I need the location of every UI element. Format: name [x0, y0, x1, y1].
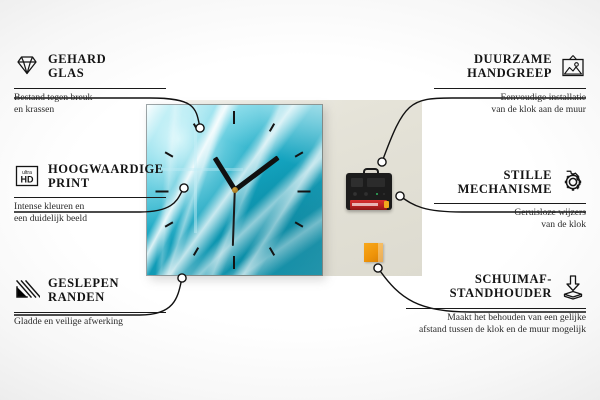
clock-center-cap	[232, 187, 238, 193]
picture-frame-icon	[560, 54, 586, 78]
diamond-icon	[14, 54, 40, 78]
clock-tick-6	[233, 256, 235, 269]
glass-wall-clock-product	[147, 105, 322, 275]
clock-tick-12	[233, 111, 235, 124]
ultra-hd-icon: ultra HD	[14, 164, 40, 188]
feature-stille-mechanisme: STILLE MECHANISME Geruisloze wijzers van…	[434, 168, 586, 230]
feature-rule	[14, 197, 166, 198]
infographic-canvas: GEHARD GLAS Bestand tegen breuk en krass…	[0, 0, 600, 400]
feature-duurzame-handgreep: DUURZAME HANDGREEP Eenvoudige installati…	[434, 52, 586, 115]
feature-title: HOOGWAARDIGE PRINT	[48, 162, 164, 190]
clock-tick-3	[298, 191, 311, 193]
feature-description: Gladde en veilige afwerking	[14, 316, 166, 328]
feature-description: Bestand tegen breuk en krassen	[14, 92, 166, 115]
feature-title: STILLE MECHANISME	[458, 168, 552, 196]
feature-geslepen-randen: GESLEPEN RANDEN Gladde en veilige afwerk…	[14, 276, 166, 328]
clock-mechanism	[346, 168, 392, 210]
feature-title: SCHUIMAF- STANDHOUDER	[450, 272, 552, 300]
feature-rule	[14, 88, 166, 89]
feature-hoogwaardige-print: ultra HD HOOGWAARDIGE PRINT Intense kleu…	[14, 162, 166, 224]
mechanism-battery	[350, 200, 387, 210]
feature-schuimaf-standhouder: SCHUIMAF- STANDHOUDER Maakt het behouden…	[406, 272, 586, 335]
feature-rule	[434, 203, 586, 204]
feature-rule	[434, 88, 586, 89]
feature-description: Geruisloze wijzers van de klok	[434, 207, 586, 230]
foam-spacer-piece	[364, 243, 383, 262]
gear-icon	[560, 170, 586, 194]
beveled-edges-icon	[14, 278, 40, 302]
feature-description: Eenvoudige installatie van de klok aan d…	[434, 92, 586, 115]
battery-label-stripe	[352, 203, 378, 206]
feature-rule	[14, 312, 166, 313]
feature-title: DUURZAME HANDGREEP	[467, 52, 552, 80]
feature-description: Maakt het behouden van een gelijke afsta…	[406, 312, 586, 335]
feature-title: GESLEPEN RANDEN	[48, 276, 119, 304]
feature-rule	[406, 308, 586, 309]
mechanism-body	[346, 173, 392, 210]
feature-title: GEHARD GLAS	[48, 52, 106, 80]
mechanism-detail-dots	[351, 190, 387, 198]
feature-gehard-glas: GEHARD GLAS Bestand tegen breuk en krass…	[14, 52, 166, 115]
spacer-arrow-icon	[560, 274, 586, 298]
svg-text:HD: HD	[21, 175, 34, 185]
feature-description: Intense kleuren en een duidelijk beeld	[14, 201, 166, 224]
